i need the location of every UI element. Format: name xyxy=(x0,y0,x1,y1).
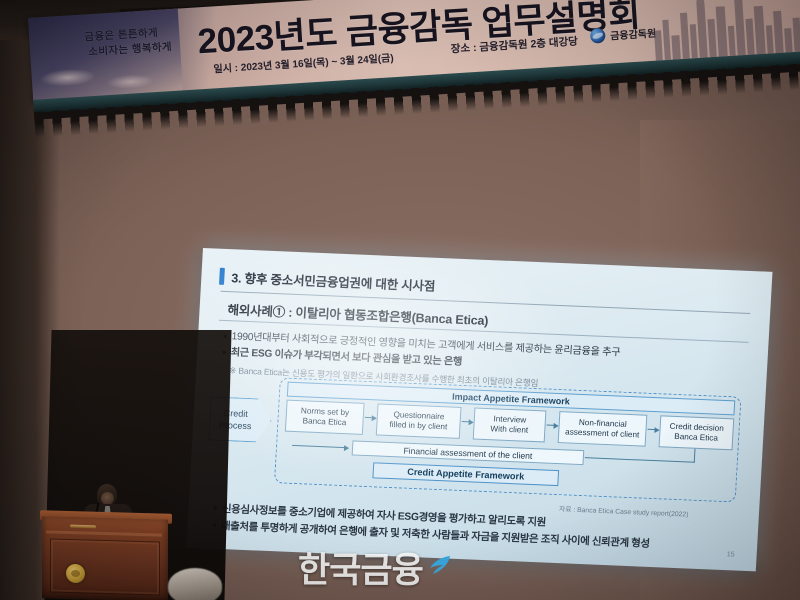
conference-photo-scene: 금융은 튼튼하게 소비자는 행복하게 2023년도 금융감독 업무설명회 일시 … xyxy=(0,0,800,600)
podium-front-panel xyxy=(50,538,160,595)
diagram-node: Credit decision Banca Etica xyxy=(659,415,735,450)
slide-content: 3. 향후 중소서민금융업권에 대한 시사점 해외사례① : 이탈리아 협동조합… xyxy=(186,248,772,571)
case-title-text: 해외사례① : 이탈리아 협동조합은행(Banca Etica) xyxy=(227,299,489,329)
section-accent-bar xyxy=(219,268,225,285)
node-line2: With client xyxy=(490,424,528,436)
slide-section-heading: 3. 향후 중소서민금융업권에 대한 시사점 xyxy=(219,267,436,295)
banner-organization: 금융감독원 xyxy=(590,25,657,44)
node-line2: Banca Etica xyxy=(674,432,718,444)
diagram-node: Non-financial assessment of client xyxy=(558,411,648,447)
diagram-node: Norms set by Banca Etica xyxy=(285,400,365,435)
banner-org-label: 금융감독원 xyxy=(610,25,657,43)
city-skyline-icon xyxy=(649,0,800,61)
banner-title: 2023년도 금융감독 업무설명회 xyxy=(196,0,641,64)
slide-page-number: 15 xyxy=(727,551,735,558)
diagram-node: Questionnaire filled in by client xyxy=(376,403,462,438)
diagram-node: Interview With client xyxy=(473,408,547,443)
projection-screen: 3. 향후 중소서민금융업권에 대한 시사점 해외사례① : 이탈리아 협동조합… xyxy=(186,248,773,581)
gold-seal-emblem-icon xyxy=(66,564,85,584)
node-line2: filled in by client xyxy=(389,420,447,433)
node-line2: assessment of client xyxy=(565,427,640,441)
credit-process-diagram: Credit Process Impact Appetite Framework… xyxy=(202,374,756,507)
audience-head xyxy=(168,568,222,600)
node-line2: Banca Etica xyxy=(302,416,346,428)
section-title-text: 3. 향후 중소서민금융업권에 대한 시사점 xyxy=(231,267,436,295)
fss-circle-logo-icon xyxy=(590,28,606,44)
